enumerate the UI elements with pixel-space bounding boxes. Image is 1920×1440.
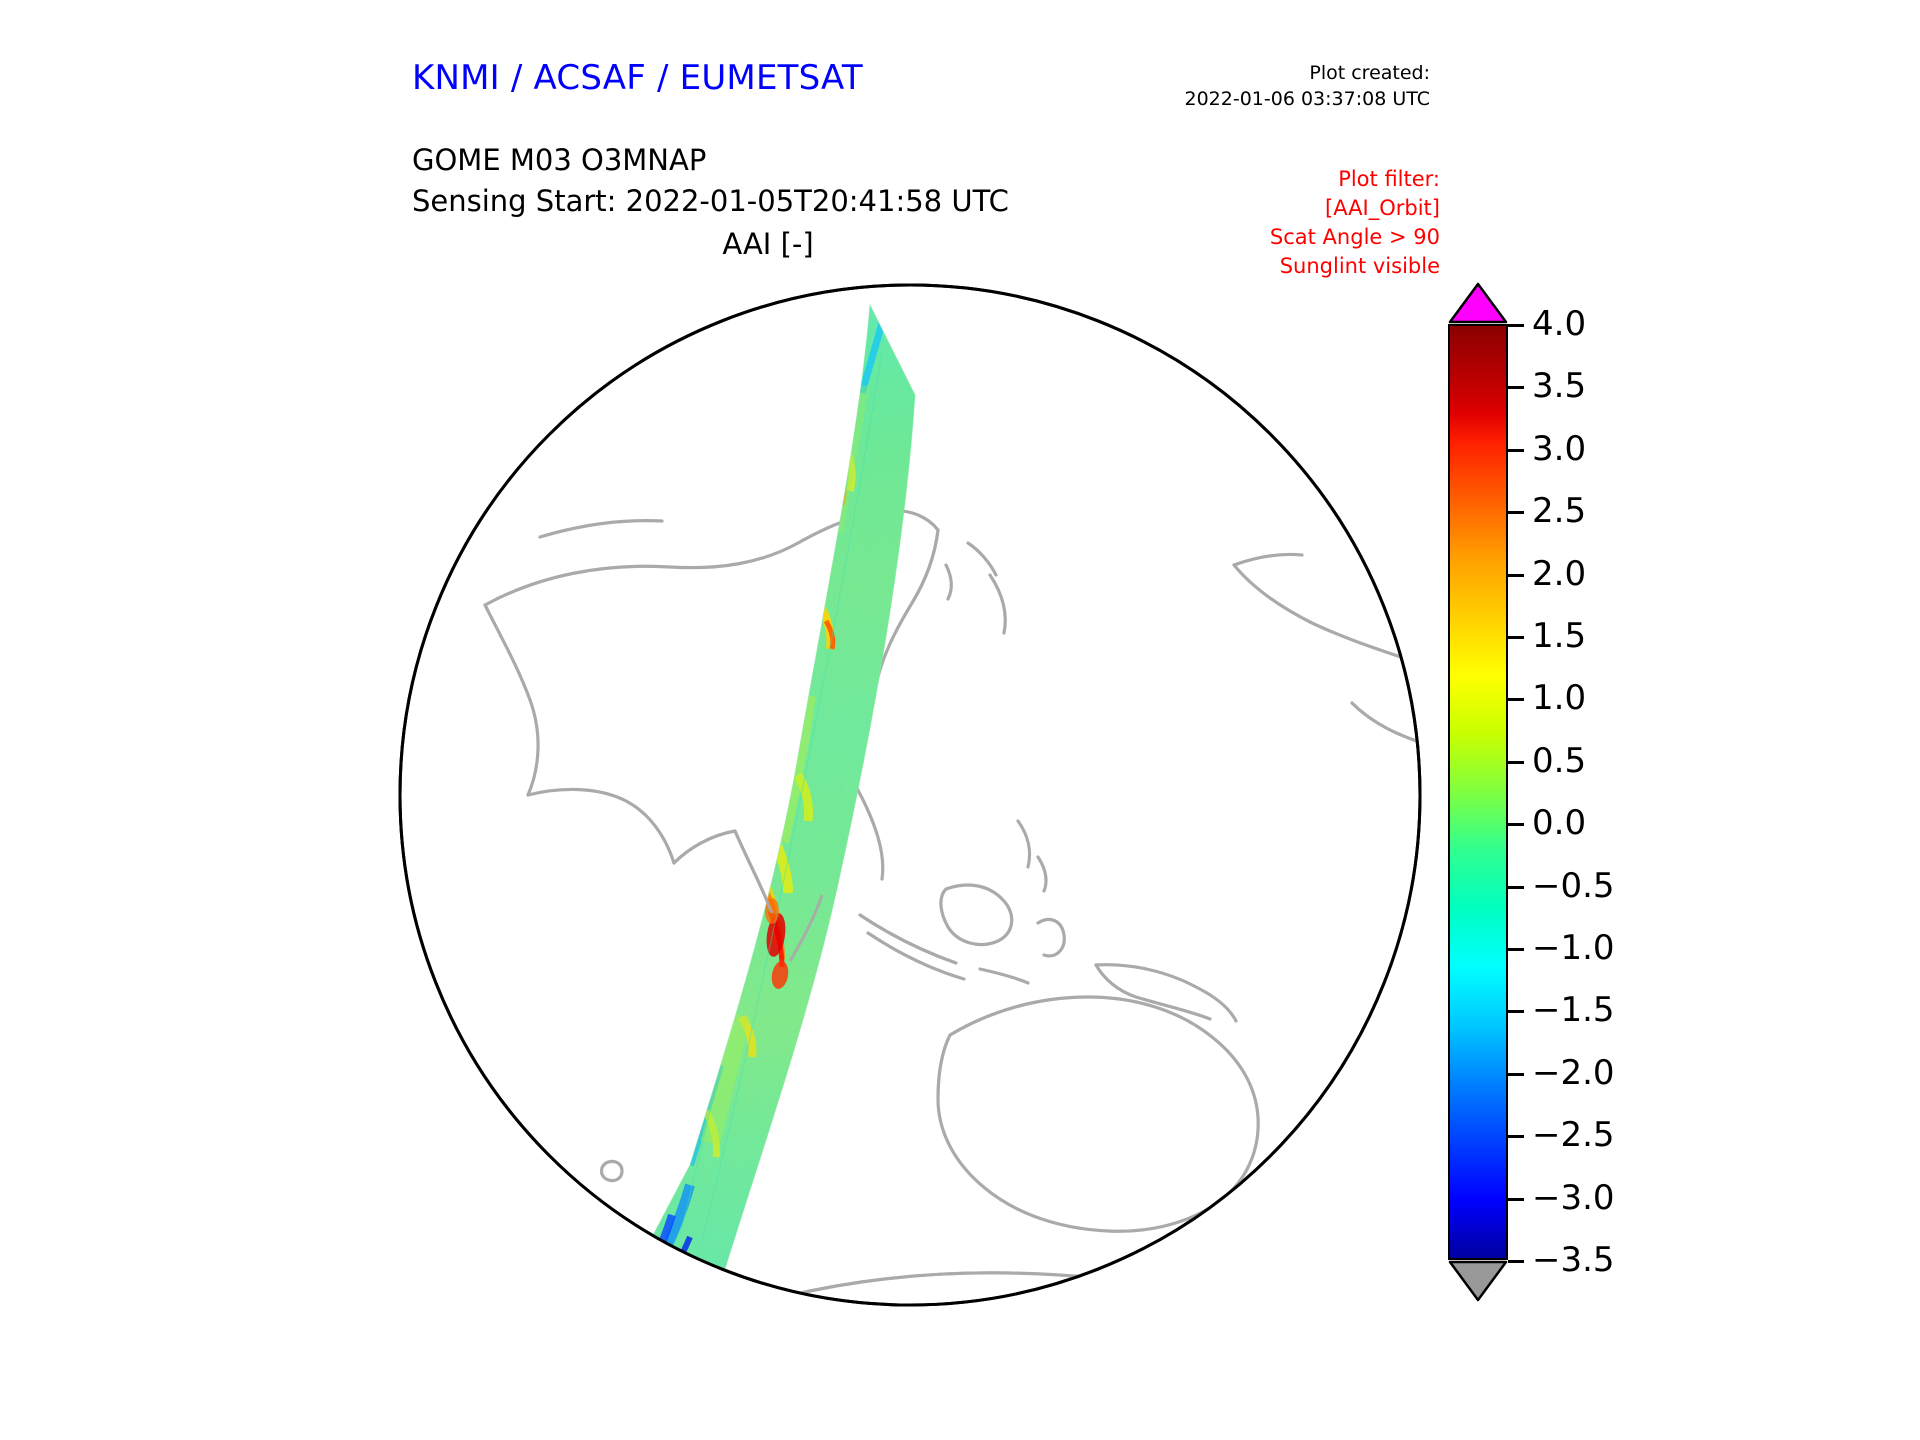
colorbar-tick-label: −0.5 — [1532, 866, 1615, 906]
colorbar-tick-label: −3.0 — [1532, 1178, 1615, 1218]
colorbar-tick-label: −1.5 — [1532, 990, 1615, 1030]
plot-filter-scat-angle: Scat Angle > 90 — [1270, 223, 1440, 252]
colorbar-tick-label: −1.0 — [1532, 928, 1615, 968]
colorbar-tick — [1508, 1135, 1524, 1138]
colorbar-tick — [1508, 1010, 1524, 1013]
colorbar-tick-label: −2.5 — [1532, 1115, 1615, 1155]
colorbar-tick — [1508, 449, 1524, 452]
colorbar-tick — [1508, 823, 1524, 826]
colorbar-tick — [1508, 324, 1524, 327]
colorbar-tick — [1508, 948, 1524, 951]
colorbar-tick-label: 4.0 — [1532, 304, 1586, 344]
plot-filter-name: [AAI_Orbit] — [1270, 194, 1440, 223]
colorbar-gradient — [1448, 324, 1508, 1260]
colorbar-tick-label: 3.0 — [1532, 429, 1586, 469]
globe-map — [390, 275, 1430, 1315]
plot-filter-block: Plot filter: [AAI_Orbit] Scat Angle > 90… — [1270, 165, 1440, 281]
colorbar-tick — [1508, 511, 1524, 514]
colorbar-tick-label: 1.0 — [1532, 678, 1586, 718]
sensing-start-line: Sensing Start: 2022-01-05T20:41:58 UTC — [412, 181, 1009, 222]
colorbar-tick-label: 2.5 — [1532, 491, 1586, 531]
plot-filter-label: Plot filter: — [1270, 165, 1440, 194]
colorbar-tick — [1508, 1260, 1524, 1263]
colorbar-tick-label: −3.5 — [1532, 1240, 1615, 1280]
colorbar-over-arrow — [1448, 282, 1508, 324]
colorbar-tick-label: 0.0 — [1532, 803, 1586, 843]
colorbar-tick — [1508, 636, 1524, 639]
plot-page: KNMI / ACSAF / EUMETSAT GOME M03 O3MNAP … — [0, 0, 1920, 1440]
colorbar-tick — [1508, 886, 1524, 889]
colorbar-tick — [1508, 1073, 1524, 1076]
colorbar-tick-label: −2.0 — [1532, 1053, 1615, 1093]
colorbar-tick-label: 1.5 — [1532, 616, 1586, 656]
colorbar-tick — [1508, 386, 1524, 389]
plot-created-timestamp: 2022-01-06 03:37:08 UTC — [1185, 86, 1431, 112]
colorbar-tick-label: 2.0 — [1532, 554, 1586, 594]
product-line: GOME M03 O3MNAP — [412, 140, 1009, 181]
colorbar: 4.03.53.02.52.01.51.00.50.0−0.5−1.0−1.5−… — [1448, 282, 1508, 1302]
title-block: GOME M03 O3MNAP Sensing Start: 2022-01-0… — [412, 140, 1009, 222]
colorbar-tick-label: 0.5 — [1532, 741, 1586, 781]
colorbar-tick — [1508, 574, 1524, 577]
plot-subtitle: AAI [-] — [412, 227, 1124, 261]
colorbar-tick — [1508, 761, 1524, 764]
colorbar-tick — [1508, 698, 1524, 701]
colorbar-tick-label: 3.5 — [1532, 366, 1586, 406]
map-area — [390, 275, 1430, 1315]
plot-created-label: Plot created: — [1185, 60, 1431, 86]
plot-created-block: Plot created: 2022-01-06 03:37:08 UTC — [1185, 60, 1431, 112]
colorbar-under-arrow — [1448, 1260, 1508, 1302]
institutes-header: KNMI / ACSAF / EUMETSAT — [412, 58, 863, 98]
colorbar-tick — [1508, 1198, 1524, 1201]
